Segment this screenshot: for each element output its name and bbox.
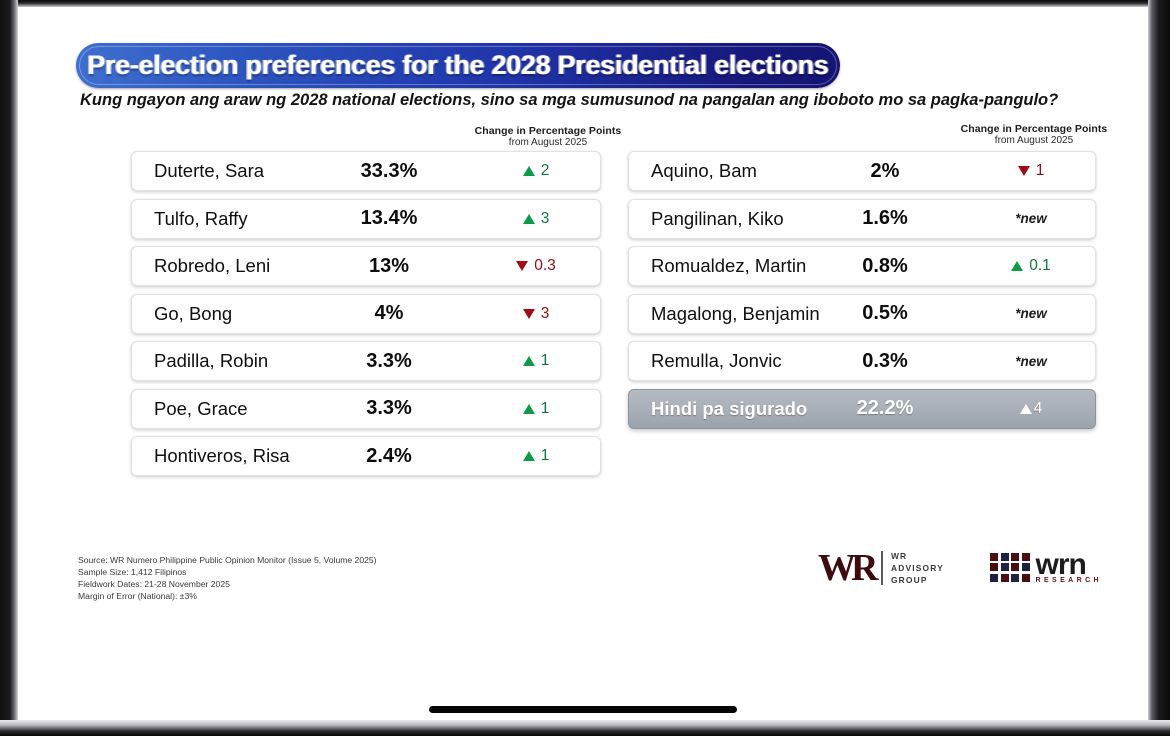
logo-square — [1011, 563, 1019, 571]
change-value: 0.1 — [1029, 257, 1051, 275]
table-row[interactable]: Tulfo, Raffy13.4%3 — [131, 199, 601, 239]
candidate-list-left: Duterte, Sara33.3%2Tulfo, Raffy13.4%3Rob… — [131, 151, 601, 484]
candidate-name: Magalong, Benjamin — [629, 303, 820, 325]
change-value: 3 — [541, 305, 550, 323]
table-row[interactable]: Duterte, Sara33.3%2 — [131, 151, 601, 191]
table-row[interactable]: Hindi pa sigurado22.2%4 — [628, 389, 1096, 429]
column-header-main-right: Change in Percentage Points — [934, 123, 1134, 135]
logo-square — [1022, 553, 1030, 561]
change-cell: 1 — [484, 400, 588, 418]
logo-square — [1001, 553, 1009, 561]
triangle-down-icon — [523, 309, 535, 319]
change-value: 4 — [1034, 400, 1043, 418]
table-row[interactable]: Poe, Grace3.3%1 — [131, 389, 601, 429]
change-cell: 1 — [979, 162, 1083, 180]
device-bezel-top — [18, 0, 1148, 7]
triangle-down-icon — [516, 261, 528, 271]
new-entrant-label: *new — [1015, 306, 1047, 321]
device-bezel-bottom — [0, 720, 1170, 736]
candidate-name: Go, Bong — [132, 303, 232, 325]
change-cell: 1 — [484, 447, 588, 465]
triangle-up-icon — [523, 404, 535, 414]
device-frame: Pre-election preferences for the 2028 Pr… — [0, 0, 1170, 736]
wr-monogram-icon: WR — [818, 549, 873, 587]
table-row[interactable]: Aquino, Bam2%1 — [628, 151, 1096, 191]
change-value: 2 — [541, 162, 550, 180]
source-note-line: Margin of Error (National): ±3% — [78, 591, 377, 603]
change-cell: *new — [979, 354, 1083, 369]
table-row[interactable]: Romualdez, Martin0.8%0.1 — [628, 246, 1096, 286]
logo-divider — [881, 551, 883, 585]
presentation-slide: Pre-election preferences for the 2028 Pr… — [18, 7, 1148, 687]
wrn-wordmark-sub: RESEARCH — [1036, 577, 1102, 584]
triangle-up-icon — [523, 166, 535, 176]
change-cell: 0.3 — [484, 257, 588, 275]
triangle-down-icon — [1018, 166, 1030, 176]
screen-bottom-area — [18, 687, 1148, 721]
wr-monogram-text: WR — [818, 547, 873, 589]
device-bezel-left — [0, 0, 18, 736]
change-value: 1 — [541, 447, 550, 465]
table-row[interactable]: Padilla, Robin3.3%1 — [131, 341, 601, 381]
new-entrant-label: *new — [1015, 211, 1047, 226]
page-title: Pre-election preferences for the 2028 Pr… — [87, 50, 828, 81]
change-value: 1 — [541, 400, 550, 418]
logo-group: WR WR ADVISORY GROUP wrn RESEARCH — [818, 543, 1108, 601]
wr-wordmark-line-2: ADVISORY — [891, 562, 944, 574]
change-cell: 1 — [484, 352, 588, 370]
source-note-line: Source: WR Numero Philippine Public Opin… — [78, 555, 377, 567]
device-screen: Pre-election preferences for the 2028 Pr… — [18, 7, 1148, 721]
candidate-name: Pangilinan, Kiko — [629, 208, 784, 230]
triangle-up-icon — [1020, 404, 1032, 414]
change-cell: 2 — [484, 162, 588, 180]
logo-square — [990, 574, 998, 582]
column-header-change-right: Change in Percentage Points from August … — [934, 123, 1134, 147]
change-cell: 0.1 — [979, 257, 1083, 275]
logo-square — [990, 563, 998, 571]
candidate-name: Duterte, Sara — [132, 160, 264, 182]
table-row[interactable]: Remulla, Jonvic0.3%*new — [628, 341, 1096, 381]
logo-square — [1022, 563, 1030, 571]
triangle-up-icon — [523, 356, 535, 366]
change-value: 1 — [1036, 162, 1045, 180]
table-row[interactable]: Robredo, Leni13%0.3 — [131, 246, 601, 286]
candidate-name: Remulla, Jonvic — [629, 350, 782, 372]
candidate-name: Hontiveros, Risa — [132, 445, 290, 467]
column-header-sub-right: from August 2025 — [934, 135, 1134, 147]
change-value: 0.3 — [534, 257, 556, 275]
change-cell: 3 — [484, 210, 588, 228]
change-value: 3 — [541, 210, 550, 228]
device-bezel-right — [1148, 0, 1170, 736]
change-cell: 4 — [979, 400, 1083, 418]
column-header-change-left: Change in Percentage Points from August … — [448, 125, 648, 149]
wr-advisory-wordmark: WR ADVISORY GROUP — [891, 550, 944, 587]
wrn-wordmark-main: wrn — [1036, 551, 1102, 579]
wr-wordmark-line-1: WR — [891, 550, 944, 562]
triangle-up-icon — [523, 214, 535, 224]
logo-square — [1011, 574, 1019, 582]
home-indicator[interactable] — [429, 706, 737, 713]
wrn-wordmark: wrn RESEARCH — [1036, 551, 1102, 584]
source-notes: Source: WR Numero Philippine Public Opin… — [78, 555, 377, 602]
wrn-research-logo: wrn RESEARCH — [990, 551, 1102, 584]
triangle-up-icon — [523, 451, 535, 461]
column-header-main-left: Change in Percentage Points — [448, 125, 648, 137]
table-row[interactable]: Magalong, Benjamin0.5%*new — [628, 294, 1096, 334]
change-cell: *new — [979, 211, 1083, 226]
change-value: 1 — [541, 352, 550, 370]
source-note-line: Sample Size: 1,412 Filipinos — [78, 567, 377, 579]
logo-square — [1001, 563, 1009, 571]
logo-square — [1022, 574, 1030, 582]
candidate-name: Poe, Grace — [132, 398, 248, 420]
change-cell: *new — [979, 306, 1083, 321]
candidate-name: Tulfo, Raffy — [132, 208, 248, 230]
column-header-sub-left: from August 2025 — [448, 137, 648, 149]
change-cell: 3 — [484, 305, 588, 323]
table-row[interactable]: Hontiveros, Risa2.4%1 — [131, 436, 601, 476]
candidate-name: Robredo, Leni — [132, 255, 270, 277]
candidate-name: Romualdez, Martin — [629, 255, 806, 277]
new-entrant-label: *new — [1015, 354, 1047, 369]
candidate-name: Hindi pa sigurado — [629, 398, 807, 420]
source-note-line: Fieldwork Dates: 21-28 November 2025 — [78, 579, 377, 591]
wr-advisory-group-logo: WR WR ADVISORY GROUP — [818, 549, 944, 587]
slide-subtitle-question: Kung ngayon ang araw ng 2028 national el… — [80, 91, 1058, 110]
logo-square — [990, 553, 998, 561]
candidate-name: Padilla, Robin — [132, 350, 268, 372]
candidate-name: Aquino, Bam — [629, 160, 757, 182]
wrn-squares-icon — [990, 553, 1030, 582]
table-row[interactable]: Pangilinan, Kiko1.6%*new — [628, 199, 1096, 239]
slide-title-badge: Pre-election preferences for the 2028 Pr… — [76, 43, 840, 88]
logo-square — [1011, 553, 1019, 561]
wr-wordmark-line-3: GROUP — [891, 574, 944, 586]
table-row[interactable]: Go, Bong4%3 — [131, 294, 601, 334]
triangle-up-icon — [1011, 261, 1023, 271]
candidate-list-right: Aquino, Bam2%1Pangilinan, Kiko1.6%*newRo… — [628, 151, 1096, 436]
logo-square — [1001, 574, 1009, 582]
